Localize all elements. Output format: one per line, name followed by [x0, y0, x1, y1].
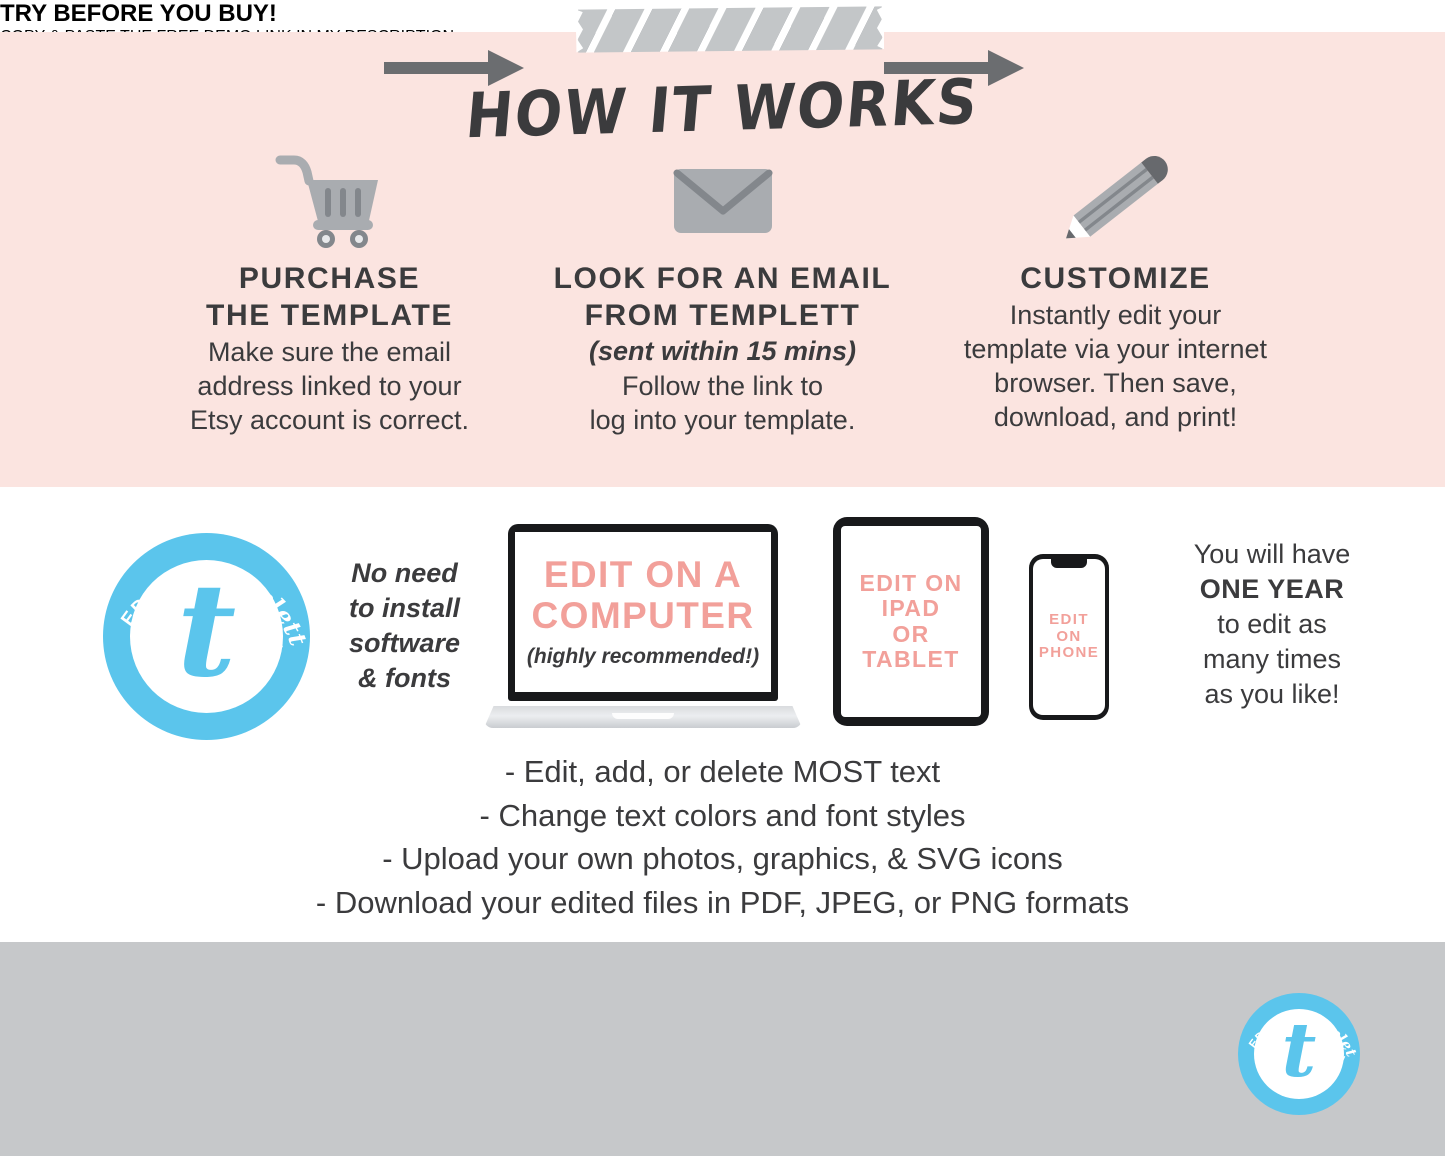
step-body-line4: download, and print! [994, 402, 1237, 432]
step-body-line2: template via your internet [964, 334, 1267, 364]
laptop-screen-title: EDIT ON A COMPUTER [532, 555, 755, 636]
step-body: Follow the link to log into your templat… [526, 369, 919, 437]
laptop-screen-subtitle: (highly recommended!) [527, 645, 759, 669]
step-look-for-email: LOOK FOR AN EMAIL FROM TEMPLETT (sent wi… [526, 150, 919, 437]
list-item: - Upload your own photos, graphics, & SV… [0, 837, 1445, 881]
tablet-title-line2: IPAD [882, 595, 941, 621]
phone-notch [1051, 559, 1087, 568]
phone-icon: EDIT ON PHONE [1029, 554, 1109, 720]
step-subnote: (sent within 15 mins) [526, 334, 919, 368]
step-heading-line2: THE TEMPLATE [206, 299, 453, 332]
one-year-line4: many times [1203, 644, 1341, 674]
list-item: - Edit, add, or delete MOST text [0, 750, 1445, 794]
infographic-page: HOW IT WORKS PURCHASE THE TEMPLATE [0, 0, 1445, 1156]
step-heading-line1: LOOK FOR AN EMAIL [554, 262, 892, 295]
step-body-line2: log into your template. [590, 405, 856, 435]
phone-title-line3: PHONE [1039, 644, 1099, 661]
one-year-line5: as you like! [1204, 679, 1339, 709]
tablet-title-line3: OR [892, 621, 929, 647]
features-list: - Edit, add, or delete MOST text - Chang… [0, 750, 1445, 925]
laptop-screen: EDIT ON A COMPUTER (highly recommended!) [515, 532, 771, 692]
step-body-line1: Follow the link to [622, 371, 823, 401]
step-body-line3: Etsy account is correct. [190, 405, 469, 435]
badge-arc-text: EDIT WITH templett EDITABLE TEMPLATE [103, 533, 310, 740]
list-item: - Download your edited files in PDF, JPE… [0, 881, 1445, 925]
one-year-highlight: ONE YEAR [1200, 574, 1345, 604]
tablet-title-line4: TABLET [862, 646, 959, 672]
tablet-screen-title: EDIT ON IPAD OR TABLET [859, 571, 962, 672]
templett-badge: t EDIT WITH templett EDITABLE TEMPLATE [103, 533, 310, 740]
laptop-trackpad-notch [612, 713, 674, 719]
list-item: - Change text colors and font styles [0, 794, 1445, 838]
no-install-line4: & fonts [358, 663, 451, 693]
tablet-title-line1: EDIT ON [859, 570, 962, 596]
step-customize: CUSTOMIZE Instantly edit your template v… [919, 150, 1312, 434]
washi-tape-icon [578, 6, 882, 52]
one-year-line3: to edit as [1217, 609, 1327, 639]
one-year-note: You will have ONE YEAR to edit as many t… [1122, 537, 1422, 712]
phone-screen: EDIT ON PHONE [1033, 559, 1105, 715]
phone-title-line1: EDIT [1049, 611, 1089, 628]
tablet-screen: EDIT ON IPAD OR TABLET [841, 526, 981, 717]
no-install-line2: to install [349, 593, 460, 623]
step-body: Make sure the email address linked to yo… [133, 335, 526, 437]
pencil-icon [919, 150, 1312, 250]
laptop-lid: EDIT ON A COMPUTER (highly recommended!) [508, 524, 778, 701]
step-heading: LOOK FOR AN EMAIL FROM TEMPLETT [526, 260, 919, 334]
svg-text:templett: templett [204, 562, 310, 650]
tablet-icon: EDIT ON IPAD OR TABLET [833, 517, 989, 726]
one-year-line1: You will have [1194, 539, 1351, 569]
phone-title-line2: ON [1056, 628, 1081, 645]
step-heading: PURCHASE THE TEMPLATE [133, 260, 526, 334]
no-install-line1: No need [351, 558, 458, 588]
no-install-note: No need to install software & fonts [332, 556, 477, 696]
footer-cta-section [0, 942, 1445, 1156]
step-body-line1: Make sure the email [208, 337, 451, 367]
step-purchase: PURCHASE THE TEMPLATE Make sure the emai… [133, 150, 526, 437]
step-heading-line2: FROM TEMPLETT [585, 299, 861, 332]
step-body-line3: browser. Then save, [994, 368, 1237, 398]
envelope-icon [526, 150, 919, 250]
step-heading-line1: CUSTOMIZE [1020, 262, 1211, 295]
steps-row: PURCHASE THE TEMPLATE Make sure the emai… [0, 150, 1445, 470]
phone-screen-title: EDIT ON PHONE [1039, 612, 1099, 662]
laptop-icon: EDIT ON A COMPUTER (highly recommended!) [484, 524, 802, 728]
shopping-cart-icon [133, 150, 526, 250]
step-heading: CUSTOMIZE [919, 260, 1312, 297]
step-body-line2: address linked to your [197, 371, 461, 401]
step-body: Instantly edit your template via your in… [919, 298, 1312, 434]
step-heading-line1: PURCHASE [239, 262, 420, 295]
laptop-title-line2: COMPUTER [532, 595, 755, 636]
laptop-title-line1: EDIT ON A [544, 554, 742, 595]
templett-badge-footer: t EDIT WITH templett EDITABLE TEMPLATE [1238, 993, 1360, 1115]
badge-arc-text: EDIT WITH templett EDITABLE TEMPLATE [1238, 993, 1360, 1115]
step-body-line1: Instantly edit your [1010, 300, 1222, 330]
no-install-line3: software [349, 628, 460, 658]
